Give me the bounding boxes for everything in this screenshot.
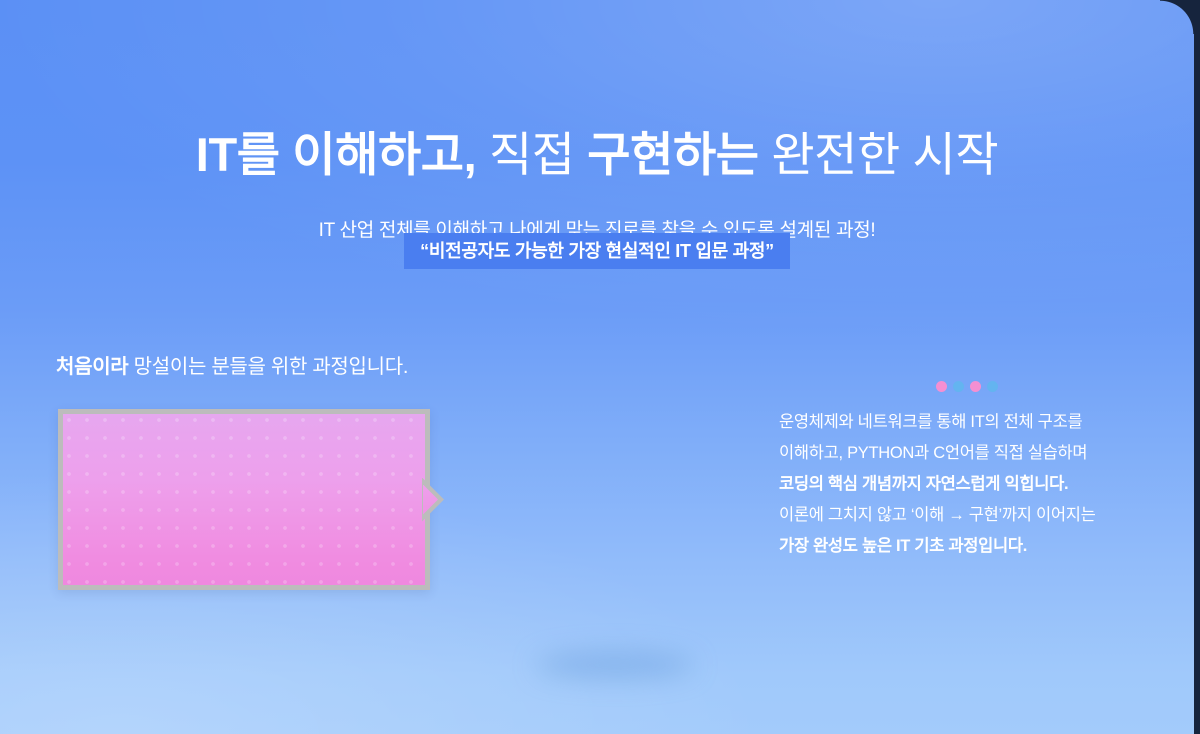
dot-4 [987, 381, 998, 392]
description-line: 이해하고, PYTHON과 C언어를 직접 실습하며 [779, 438, 1159, 469]
hero-badge: “비전공자도 가능한 가장 현실적인 IT 입문 과정” [404, 233, 790, 269]
headline-segment-2: 직접 [476, 128, 587, 181]
dot-2 [953, 381, 964, 392]
section-heading: 처음이라 망설이는 분들을 위한 과정입니다. [56, 350, 408, 379]
hero-headline: IT를 이해하고, 직접 구현하는 완전한 시작 [0, 127, 1194, 182]
description-line: 코딩의 핵심 개념까지 자연스럽게 익힙니다. [779, 469, 1159, 500]
dot-1 [936, 381, 947, 392]
blurred-smudge [536, 652, 694, 678]
headline-segment-4: 완전한 시작 [759, 128, 999, 181]
feature-card-surface [58, 409, 430, 590]
headline-segment-1: IT를 이해하고, [196, 128, 476, 181]
feature-card[interactable] [58, 409, 430, 590]
section-heading-emphasis: 처음이라 [56, 356, 128, 378]
hero-banner: IT를 이해하고, 직접 구현하는 완전한 시작 IT 산업 전체를 이해하고 … [0, 0, 1200, 734]
description-line: 가장 완성도 높은 IT 기초 과정입니다. [779, 531, 1159, 562]
hero-badge-row: “비전공자도 가능한 가장 현실적인 IT 입문 과정” [0, 233, 1194, 269]
description-line: 운영체제와 네트워크를 통해 IT의 전체 구조를 [779, 407, 1159, 438]
decorative-dots [936, 381, 998, 392]
dot-3 [970, 381, 981, 392]
headline-segment-3: 구현하는 [587, 128, 758, 181]
right-description: 운영체제와 네트워크를 통해 IT의 전체 구조를 이해하고, PYTHON과 … [779, 407, 1159, 562]
section-heading-rest: 망설이는 분들을 위한 과정입니다. [128, 356, 408, 378]
panel-right-edge [1194, 0, 1200, 734]
description-line: 이론에 그치지 않고 ‘이해 → 구현’까지 이어지는 [779, 500, 1159, 531]
